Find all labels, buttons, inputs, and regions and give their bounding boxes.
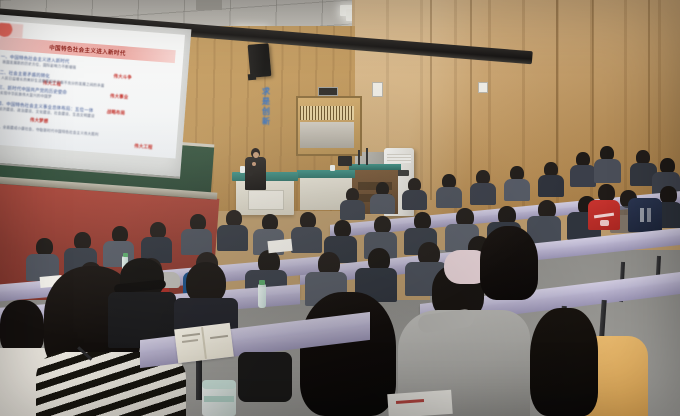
bottle-cap xyxy=(123,253,128,257)
wall-character: 创 xyxy=(262,108,270,116)
speaker-bracket xyxy=(248,74,256,81)
cabinet-top xyxy=(349,164,401,170)
wood-seam xyxy=(556,0,558,180)
projection-screen-assembly: 中国特色社会主义进入新时代 一、中国特色社会主义进入新时代 我国发展新的历史方位… xyxy=(0,14,191,179)
wall-calligraphy-characters: 求 是 创 新 xyxy=(258,88,274,150)
student-torso-navy-jacket xyxy=(628,198,662,232)
student-torso xyxy=(217,225,248,251)
jacket-text-mark xyxy=(647,208,651,222)
student-torso xyxy=(340,200,365,220)
wall-mounted-speaker-icon xyxy=(248,43,272,78)
student-head-foreground xyxy=(0,300,44,354)
slide-emphasis: 伟大斗争 xyxy=(113,74,132,81)
student-torso xyxy=(436,187,462,208)
slide-emphasis: 伟大工程 xyxy=(134,143,153,150)
student-torso xyxy=(291,227,322,253)
presentation-slide: 中国特色社会主义进入新时代 一、中国特色社会主义进入新时代 我国发展新的历史方位… xyxy=(0,20,185,158)
wall-character: 是 xyxy=(262,98,270,106)
wood-seam xyxy=(648,0,650,160)
student-hair-foreground xyxy=(480,226,538,300)
thermos-lid xyxy=(202,380,236,389)
student-torso xyxy=(504,179,530,201)
lectern-panel-detail xyxy=(248,190,284,210)
slide-title-text: 中国特色社会主义进入新时代 xyxy=(49,43,126,57)
wall-character: 求 xyxy=(262,88,270,96)
side-podium-top xyxy=(297,170,355,178)
student-torso xyxy=(470,183,496,205)
ceiling-vent xyxy=(196,0,222,10)
jacket-white-logo xyxy=(600,220,609,226)
lecturer-face xyxy=(253,152,259,158)
bottle-cap xyxy=(259,280,265,285)
slide-emphasis: 战略布局 xyxy=(107,109,126,116)
paper-sheet xyxy=(267,239,292,253)
wall-character: 新 xyxy=(262,118,270,126)
student-torso xyxy=(402,190,427,210)
wood-seam xyxy=(592,0,594,172)
water-cup xyxy=(330,165,335,171)
backpack xyxy=(238,352,292,402)
microphone-stand xyxy=(366,148,368,165)
student-torso xyxy=(538,175,564,197)
wood-seam xyxy=(430,0,432,200)
wall-notice xyxy=(372,82,383,97)
student-hair-foreground xyxy=(300,292,396,416)
lecturer-hand xyxy=(252,162,256,166)
lecture-hall-photo: 求 是 创 新 中国特色社会主义进入新时代 一、中国特色社会主义进入新时代 我国… xyxy=(0,0,680,416)
cabinet-lower-panel xyxy=(300,122,354,148)
student-torso xyxy=(570,165,596,187)
lecturer-figure xyxy=(243,148,269,190)
cabinet-grille xyxy=(300,106,354,120)
student-torso xyxy=(370,194,395,214)
water-bottle xyxy=(258,284,266,308)
student-hair-right xyxy=(530,308,598,416)
jacket-text-mark xyxy=(640,208,644,222)
wall-control-panel[interactable] xyxy=(318,87,338,96)
desk-item-box xyxy=(338,156,352,166)
ac-vent-grille xyxy=(387,154,411,163)
slide-body-line: 五、全面建成小康社会，夺取新时代中国特色社会主义伟大胜利 xyxy=(0,125,99,138)
slide-emphasis: 伟大事业 xyxy=(110,93,129,100)
wood-seam xyxy=(470,0,472,196)
thermos-band xyxy=(204,396,234,402)
wall-notice xyxy=(478,82,488,93)
slide-emphasis: 伟大梦想 xyxy=(30,117,49,124)
student-torso xyxy=(594,159,621,183)
microphone-stand xyxy=(358,150,360,165)
